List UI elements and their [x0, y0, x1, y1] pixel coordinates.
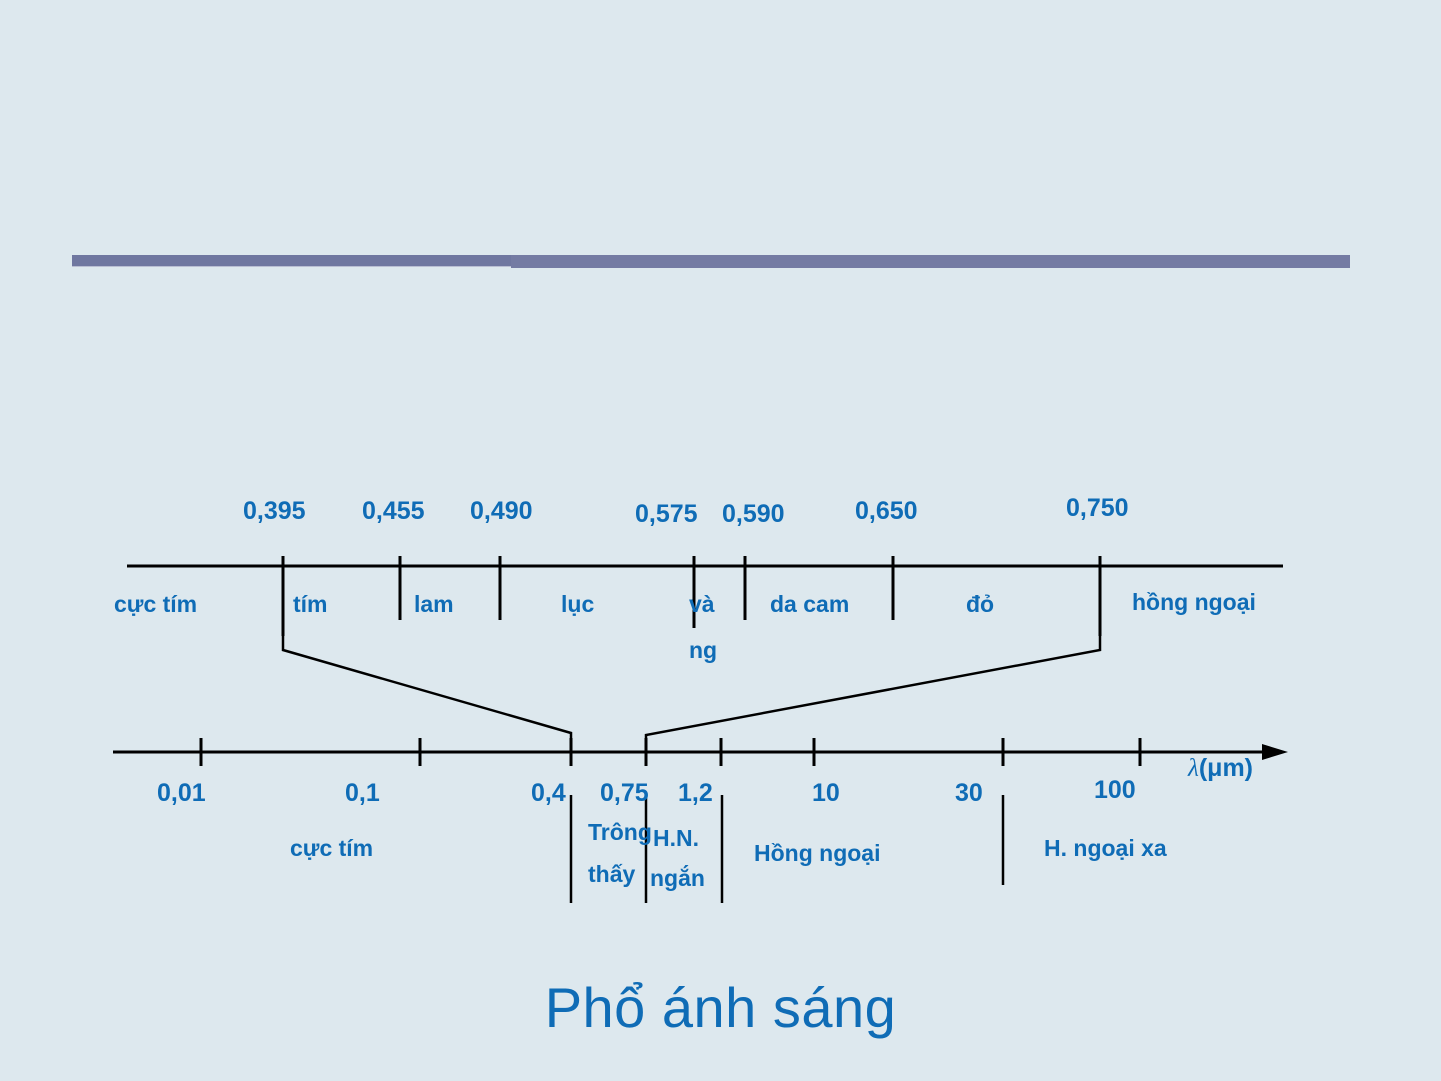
bottom-value-01: 0,1 — [345, 780, 380, 806]
top-band-cuc-tim: cực tím — [114, 592, 197, 616]
bottom-value-075: 0,75 — [600, 780, 649, 806]
lambda-axis-label: λ(μm) — [1163, 726, 1253, 811]
top-band-luc: lục — [561, 592, 594, 616]
lambda-unit: (μm) — [1199, 754, 1253, 782]
top-value-0395: 0,395 — [243, 498, 306, 524]
bottom-band-trong-thay-l2: thấy — [588, 862, 635, 886]
bottom-value-12: 1,2 — [678, 780, 713, 806]
bottom-value-04: 0,4 — [531, 780, 566, 806]
bottom-value-001: 0,01 — [157, 780, 206, 806]
bottom-band-h-ngoai-xa: H. ngoại xa — [1044, 836, 1167, 860]
top-band-do: đỏ — [966, 592, 994, 616]
top-value-0590: 0,590 — [722, 501, 785, 527]
top-band-vang-line2: ng — [689, 638, 717, 662]
bottom-band-hn-ngan-l1: H.N. — [653, 826, 699, 850]
lambda-symbol: λ — [1188, 755, 1199, 782]
bottom-axis-arrowhead — [1262, 744, 1288, 760]
slide-canvas: 0,395 0,455 0,490 0,575 0,590 0,650 0,75… — [0, 0, 1441, 1081]
top-band-da-cam: da cam — [770, 592, 849, 616]
top-band-tim: tím — [293, 592, 328, 616]
bottom-band-hn-ngan-l2: ngắn — [650, 866, 705, 890]
top-band-hong-ngoai: hồng ngoại — [1132, 590, 1256, 614]
bottom-band-cuc-tim: cực tím — [290, 836, 373, 860]
slide-title: Phổ ánh sáng — [0, 975, 1441, 1040]
top-band-lam: lam — [414, 592, 454, 616]
bottom-value-10: 10 — [812, 780, 840, 806]
spectrum-diagram — [0, 0, 1441, 1081]
top-value-0490: 0,490 — [470, 498, 533, 524]
top-value-0455: 0,455 — [362, 498, 425, 524]
bottom-value-30: 30 — [955, 780, 983, 806]
bottom-value-100: 100 — [1094, 777, 1136, 803]
top-value-0750: 0,750 — [1066, 495, 1129, 521]
top-value-0650: 0,650 — [855, 498, 918, 524]
top-band-vang-line1: và — [689, 592, 715, 616]
top-value-0575: 0,575 — [635, 501, 698, 527]
bottom-band-trong-thay-l1: Trông — [588, 820, 652, 844]
bottom-band-hong-ngoai: Hồng ngoại — [754, 841, 880, 865]
